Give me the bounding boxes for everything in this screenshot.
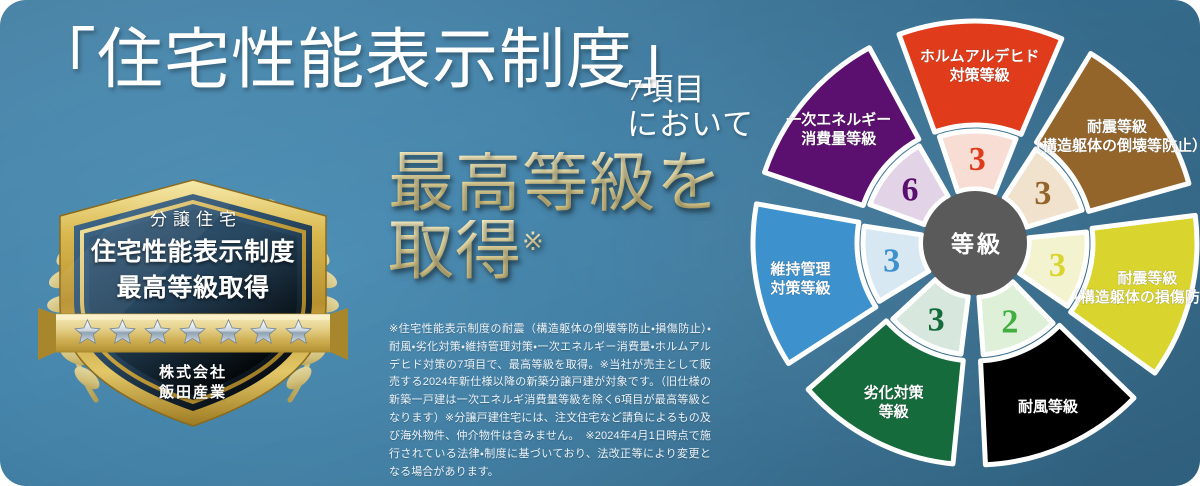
certification-emblem: 分譲住宅 住宅性能表示制度 最高等級取得 株式会社 飯田産業 <box>38 168 348 436</box>
promo-banner: 「住宅性能表示制度」 7項目 において 最高等級を 取得※ ※住宅性能表示制度の… <box>0 0 1200 486</box>
fineprint: ※住宅性能表示制度の耐震（構造躯体の倒壊等防止・損傷防止）・耐風・劣化対策・維持… <box>389 321 711 481</box>
headline-sub: 7項目 において <box>627 74 754 140</box>
wheel-hub-label: 等級 <box>951 231 1003 257</box>
wheel-grade-number: 3 <box>969 141 986 178</box>
wheel-grade-number: 3 <box>928 302 945 339</box>
headline-main: 「住宅性能表示制度」 <box>30 28 700 94</box>
slogan-line2-text: 取得 <box>388 215 522 288</box>
slogan-line1: 最高等級を <box>388 152 748 216</box>
wheel-grade-number: 3 <box>1049 247 1066 284</box>
headline: 「住宅性能表示制度」 7項目 において <box>30 28 750 148</box>
fineprint-text: ※住宅性能表示制度の耐震（構造躯体の倒壊等防止・損傷防止）・耐風・劣化対策・維持… <box>389 321 711 481</box>
wheel-slice-label: 耐風等級 <box>1018 397 1079 415</box>
star-ribbon <box>38 308 348 360</box>
wheel-grade-number: 3 <box>1034 175 1051 212</box>
wheel-grade-number: 3 <box>883 243 900 280</box>
wheel-grade-number: 2 <box>1001 304 1018 341</box>
wheel-grade-number: 6 <box>901 171 918 208</box>
grade-wheel-chart: 等級 耐震等級（構造躯体の倒壊等防止）耐震等級（構造躯体の損傷防止）耐風等級劣化… <box>742 8 1200 478</box>
slogan: 最高等級を 取得※ <box>388 152 748 284</box>
headline-sub-line2: において <box>627 109 754 141</box>
headline-sub-line1: 7項目 <box>627 74 754 106</box>
slogan-line2: 取得※ <box>388 220 748 284</box>
slogan-asterisk: ※ <box>522 227 544 256</box>
